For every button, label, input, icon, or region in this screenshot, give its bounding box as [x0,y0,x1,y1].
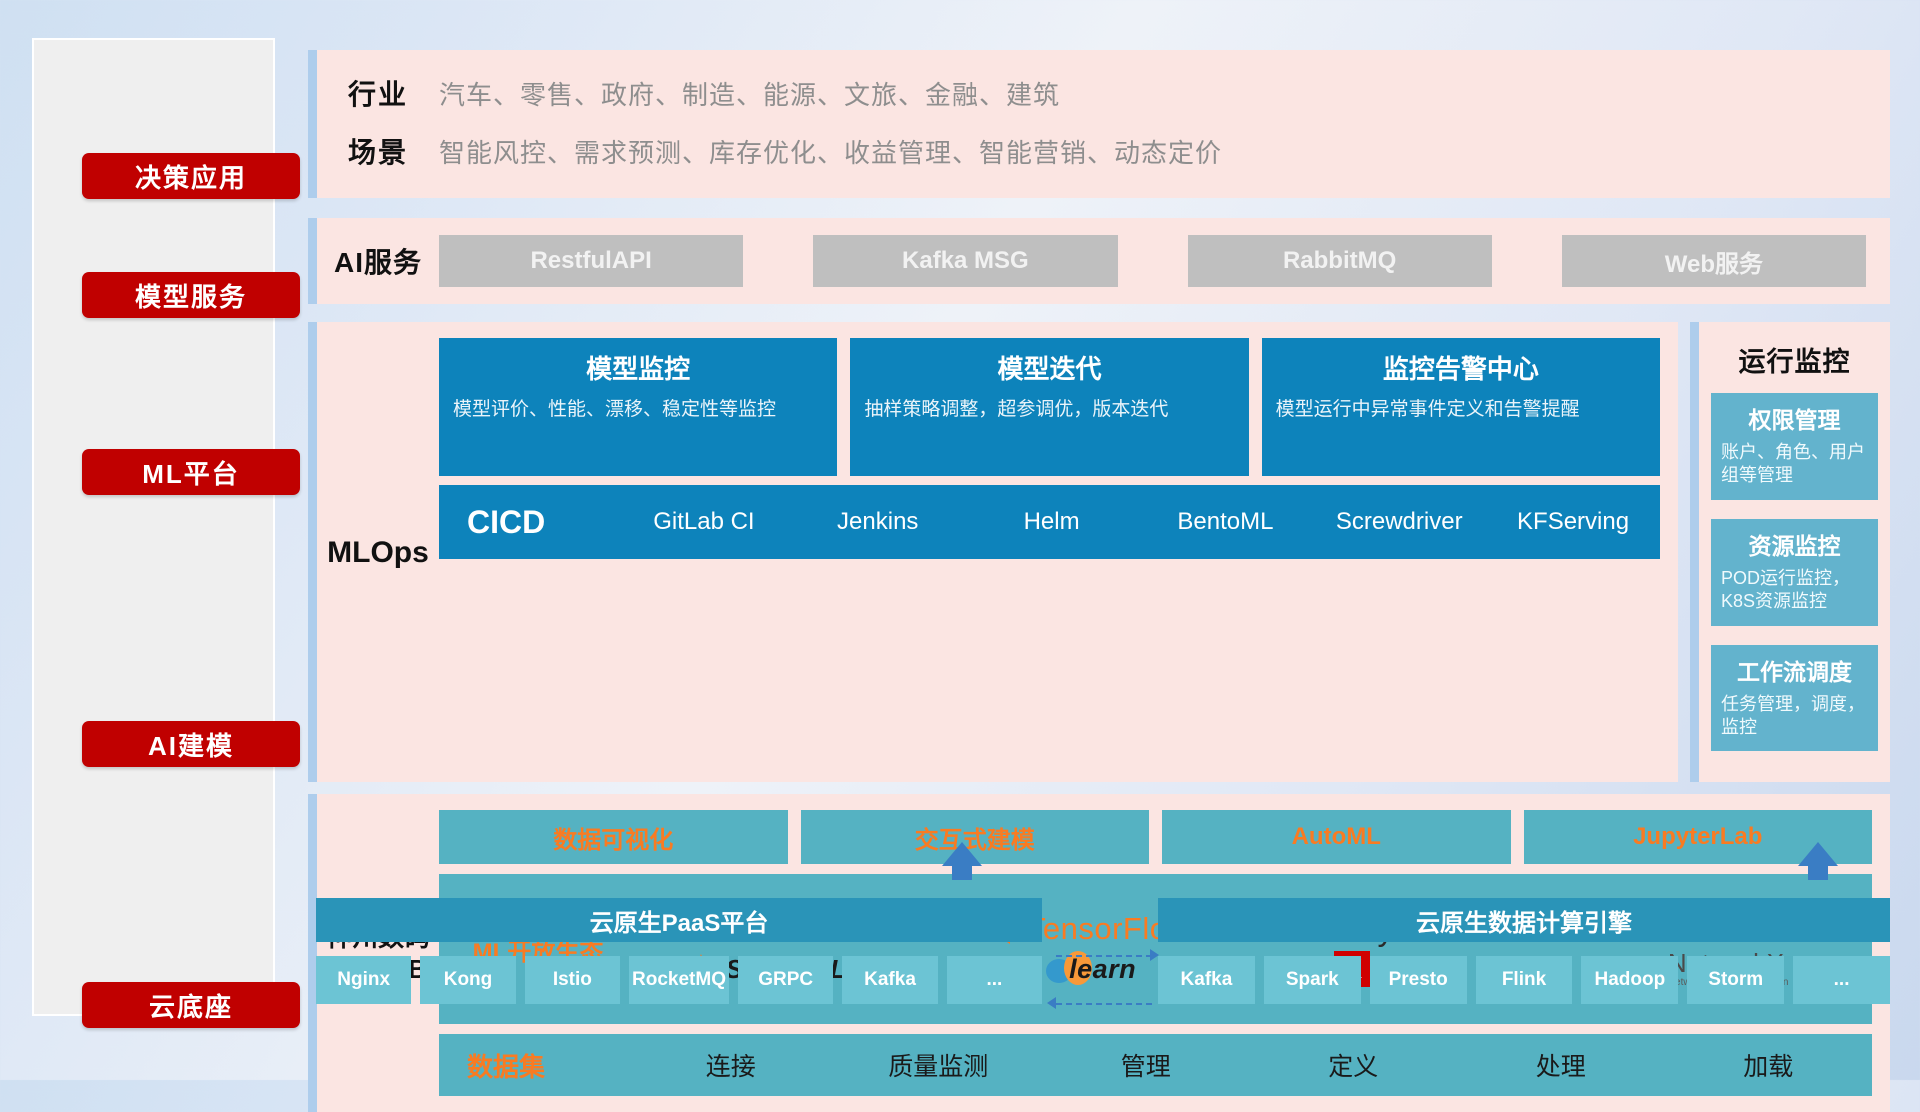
engine-chip-presto[interactable]: Presto [1370,956,1467,1004]
mlops-and-monitor-row: MLOps 模型监控 模型评价、性能、漂移、稳定性等监控 模型迭代 抽样策略调整… [308,322,1890,782]
cicd-tool-helm[interactable]: Helm [965,509,1139,534]
industry-label: 行业 [317,73,439,113]
cicd-tool-gitlab-ci[interactable]: GitLab CI [617,509,791,534]
run-monitor-rail: 运行监控 权限管理 账户、角色、用户组等管理 资源监控 POD运行监控，K8S资… [1690,322,1890,782]
layer-chip-decision-app[interactable]: 决策应用 [82,153,300,199]
industry-row: 行业 汽车、零售、政府、制造、能源、文旅、金融、建筑 [317,64,1890,122]
scenario-values: 智能风控、需求预测、库存优化、收益管理、智能营销、动态定价 [439,133,1222,170]
paas-chip-istio[interactable]: Istio [525,956,620,1004]
engine-uplink-arrow-icon [1798,842,1838,866]
mlops-card-title: 模型监控 [453,349,823,386]
ai-service-chip-web-service[interactable]: Web服务 [1562,235,1866,287]
cicd-tool-kfserving[interactable]: KFServing [1486,509,1660,534]
tab-automl[interactable]: AutoML [1162,810,1511,864]
connector-arrowhead-left-icon [1047,997,1056,1009]
mlops-band: MLOps 模型监控 模型评价、性能、漂移、稳定性等监控 模型迭代 抽样策略调整… [308,322,1678,782]
layer-chip-ml-platform[interactable]: ML平台 [82,449,300,495]
monitor-card-desc: 任务管理，调度，监控 [1721,693,1868,740]
cicd-tool-screwdriver[interactable]: Screwdriver [1312,509,1486,534]
cicd-tool-bentoml[interactable]: BentoML [1138,509,1312,534]
paas-chip-nginx[interactable]: Nginx [316,956,411,1004]
data-engine-title: 云原生数据计算引擎 [1158,898,1890,942]
monitor-card-desc: POD运行监控，K8S资源监控 [1721,567,1868,614]
engine-chip-kafka[interactable]: Kafka [1158,956,1255,1004]
industry-values: 汽车、零售、政府、制造、能源、文旅、金融、建筑 [439,75,1060,112]
architecture-diagram: 决策应用 模型服务 ML平台 AI建模 云底座 行业 汽车、零售、政府、制造、能… [0,0,1920,1080]
layer-rail: 决策应用 模型服务 ML平台 AI建模 云底座 [32,38,275,1016]
mlops-label: MLOps [317,338,439,768]
engine-chip-more[interactable]: ... [1793,956,1890,1004]
connector-dashed-right [1056,955,1152,957]
ml-lab-tab-list: 数据可视化 交互式建模 AutoML JupyterLab [439,810,1872,864]
monitor-card-workflow[interactable]: 工作流调度 任务管理，调度，监控 [1711,645,1878,752]
mlops-card-list: 模型监控 模型评价、性能、漂移、稳定性等监控 模型迭代 抽样策略调整，超参调优，… [439,338,1660,476]
engine-arrow-stem [1808,864,1828,880]
cicd-tool-list: GitLab CI Jenkins Helm BentoML Screwdriv… [617,509,1660,534]
mlops-card-alert-center[interactable]: 监控告警中心 模型运行中异常事件定义和告警提醒 [1262,338,1660,476]
connector-arrowhead-right-icon [1150,949,1159,961]
scenario-label: 场景 [317,131,439,171]
layer-chip-ai-modeling[interactable]: AI建模 [82,721,300,767]
data-engine-group: 云原生数据计算引擎 Kafka Spark Presto Flink Hadoo… [1158,898,1890,1004]
paas-uplink-arrow-icon [942,842,982,866]
paas-arrow-stem [952,864,972,880]
ai-service-band: AI服务 RestfulAPI Kafka MSG RabbitMQ Web服务 [308,218,1890,304]
ai-service-list: RestfulAPI Kafka MSG RabbitMQ Web服务 [439,235,1890,287]
mlops-body: 模型监控 模型评价、性能、漂移、稳定性等监控 模型迭代 抽样策略调整，超参调优，… [439,338,1660,768]
cicd-label: CICD [467,504,617,541]
paas-chip-grpc[interactable]: GRPC [738,956,833,1004]
engine-chip-flink[interactable]: Flink [1476,956,1573,1004]
connector-dashed-left [1056,1003,1152,1005]
mlops-card-desc: 模型评价、性能、漂移、稳定性等监控 [453,397,823,423]
scenario-row: 场景 智能风控、需求预测、库存优化、收益管理、智能营销、动态定价 [317,122,1890,180]
monitor-card-title: 工作流调度 [1721,653,1868,687]
mlops-card-title: 模型迭代 [864,349,1234,386]
paas-chip-rocketmq[interactable]: RocketMQ [629,956,729,1004]
cloud-base-section: 云原生PaaS平台 Nginx Kong Istio RocketMQ GRPC… [308,880,1890,1060]
mlops-card-model-iteration[interactable]: 模型迭代 抽样策略调整，超参调优，版本迭代 [850,338,1248,476]
engine-chip-storm[interactable]: Storm [1687,956,1784,1004]
mlops-card-title: 监控告警中心 [1276,349,1646,386]
monitor-card-resource[interactable]: 资源监控 POD运行监控，K8S资源监控 [1711,519,1878,626]
paas-chip-more[interactable]: ... [947,956,1042,1004]
engine-chip-hadoop[interactable]: Hadoop [1581,956,1678,1004]
industry-scenario-band: 行业 汽车、零售、政府、制造、能源、文旅、金融、建筑 场景 智能风控、需求预测、… [308,50,1890,198]
monitor-card-permission[interactable]: 权限管理 账户、角色、用户组等管理 [1711,393,1878,500]
ai-service-chip-restfulapi[interactable]: RestfulAPI [439,235,743,287]
tab-data-visualization[interactable]: 数据可视化 [439,810,788,864]
layer-chip-model-service[interactable]: 模型服务 [82,272,300,318]
cicd-bar: CICD GitLab CI Jenkins Helm BentoML Scre… [439,485,1660,559]
paas-platform-group: 云原生PaaS平台 Nginx Kong Istio RocketMQ GRPC… [316,898,1042,1004]
ai-service-label: AI服务 [317,241,439,281]
monitor-card-title: 权限管理 [1721,401,1868,435]
monitor-card-title: 资源监控 [1721,527,1868,561]
paas-chip-list: Nginx Kong Istio RocketMQ GRPC Kafka ... [316,956,1042,1004]
monitor-card-desc: 账户、角色、用户组等管理 [1721,441,1868,488]
engine-chip-spark[interactable]: Spark [1264,956,1361,1004]
layer-chip-cloud-base[interactable]: 云底座 [82,982,300,1028]
mlops-card-model-monitoring[interactable]: 模型监控 模型评价、性能、漂移、稳定性等监控 [439,338,837,476]
paas-chip-kong[interactable]: Kong [420,956,515,1004]
ai-service-chip-rabbitmq[interactable]: RabbitMQ [1188,235,1492,287]
mlops-card-desc: 抽样策略调整，超参调优，版本迭代 [864,397,1234,423]
engine-chip-list: Kafka Spark Presto Flink Hadoop Storm ..… [1158,956,1890,1004]
run-monitor-title: 运行监控 [1711,340,1878,379]
ai-service-chip-kafka-msg[interactable]: Kafka MSG [813,235,1117,287]
cicd-tool-jenkins[interactable]: Jenkins [791,509,965,534]
mlops-card-desc: 模型运行中异常事件定义和告警提醒 [1276,397,1646,423]
paas-platform-title: 云原生PaaS平台 [316,898,1042,942]
paas-chip-kafka[interactable]: Kafka [842,956,937,1004]
